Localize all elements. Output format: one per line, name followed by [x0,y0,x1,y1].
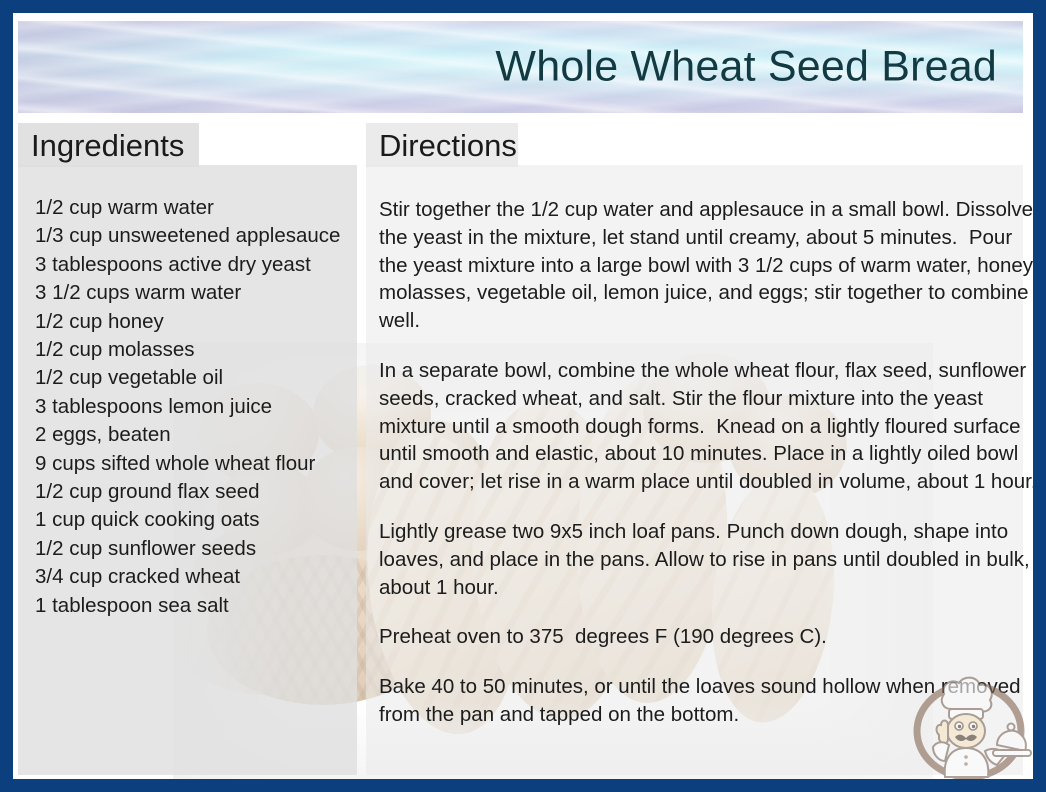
ingredient-item: 3 tablespoons active dry yeast [35,251,365,279]
header-banner: Whole Wheat Seed Bread [18,21,1023,113]
ingredient-item: 1/2 cup vegetable oil [35,364,365,392]
directions-list: Stir together the 1/2 cup water and appl… [379,196,1033,729]
ingredient-item: 3 tablespoons lemon juice [35,393,365,421]
ingredient-item: 1/3 cup unsweetened applesauce [35,222,365,250]
directions-heading: Directions [379,128,517,164]
ingredient-item: 1/2 cup honey [35,308,365,336]
ingredient-item: 1/2 cup ground flax seed [35,478,365,506]
ingredient-item: 1/2 cup warm water [35,194,365,222]
page-title: Whole Wheat Seed Bread [495,43,997,92]
ingredient-item: 1 cup quick cooking oats [35,506,365,534]
card-inner-surface: Whole Wheat Seed Bread Ingredients 1/2 c… [13,13,1033,779]
direction-step: Preheat oven to 375 degrees F (190 degre… [379,623,1033,651]
ingredient-item: 9 cups sifted whole wheat flour [35,450,365,478]
ingredient-item: 1 tablespoon sea salt [35,592,365,620]
ingredient-item: 3/4 cup cracked wheat [35,563,365,591]
ingredient-item: 2 eggs, beaten [35,421,365,449]
ingredients-list: 1/2 cup warm water 1/3 cup unsweetened a… [35,194,365,620]
direction-step: In a separate bowl, combine the whole wh… [379,357,1033,496]
recipe-card: Whole Wheat Seed Bread Ingredients 1/2 c… [0,0,1046,792]
direction-step: Lightly grease two 9x5 inch loaf pans. P… [379,518,1033,601]
ingredients-heading: Ingredients [31,128,184,164]
ingredient-item: 3 1/2 cups warm water [35,279,365,307]
ingredient-item: 1/2 cup sunflower seeds [35,535,365,563]
direction-step: Stir together the 1/2 cup water and appl… [379,196,1033,335]
direction-step: Bake 40 to 50 minutes, or until the loav… [379,673,1033,729]
ingredient-item: 1/2 cup molasses [35,336,365,364]
